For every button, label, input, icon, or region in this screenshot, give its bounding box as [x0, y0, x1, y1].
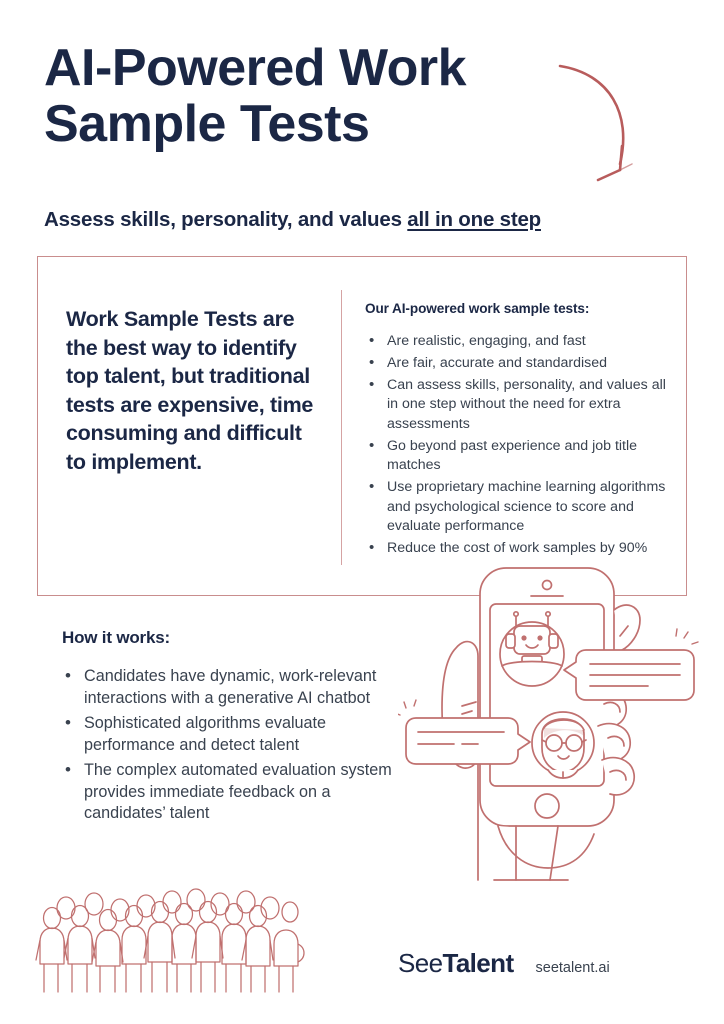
vertical-divider [341, 290, 342, 565]
how-it-works-list: Candidates have dynamic, work-relevant i… [62, 666, 392, 825]
list-item: Are fair, accurate and standardised [365, 354, 675, 373]
logo-text-light: See [398, 948, 442, 978]
callout-box: Work Sample Tests are the best way to id… [37, 256, 687, 596]
list-item: Go beyond past experience and job title … [365, 437, 675, 476]
crowd-of-people-line-illustration [32, 882, 317, 994]
features-list: Are realistic, engaging, and fast Are fa… [365, 332, 675, 558]
list-item: Are realistic, engaging, and fast [365, 332, 675, 351]
list-item: Reduce the cost of work samples by 90% [365, 539, 675, 558]
page-subtitle: Assess skills, personality, and values a… [44, 208, 541, 232]
features-heading: Our AI-powered work sample tests: [365, 301, 675, 316]
list-item: Use proprietary machine learning algorit… [365, 478, 675, 536]
list-item: Sophisticated algorithms evaluate perfor… [62, 713, 392, 756]
page-title: AI-Powered Work Sample Tests [44, 40, 564, 152]
logo-text-bold: Talent [442, 948, 513, 978]
list-item: The complex automated evaluation system … [62, 760, 392, 825]
website-url: seetalent.ai [536, 960, 610, 976]
subtitle-prefix: Assess skills, personality, and values [44, 208, 407, 231]
curved-arrow-down-icon [548, 52, 648, 197]
how-it-works-section: How it works: Candidates have dynamic, w… [62, 628, 392, 829]
list-item: Candidates have dynamic, work-relevant i… [62, 666, 392, 709]
list-item: Can assess skills, personality, and valu… [365, 376, 675, 434]
how-it-works-heading: How it works: [62, 628, 392, 648]
features-column: Our AI-powered work sample tests: Are re… [365, 301, 675, 561]
subtitle-emphasis: all in one step [407, 208, 541, 231]
hand-holding-phone-chatbot-illustration [398, 558, 700, 883]
seetalent-logo: SeeTalent [398, 948, 514, 979]
footer: SeeTalent seetalent.ai [398, 948, 698, 979]
poster-page: AI-Powered Work Sample Tests Assess skil… [0, 0, 724, 1024]
lead-statement: Work Sample Tests are the best way to id… [66, 305, 324, 477]
